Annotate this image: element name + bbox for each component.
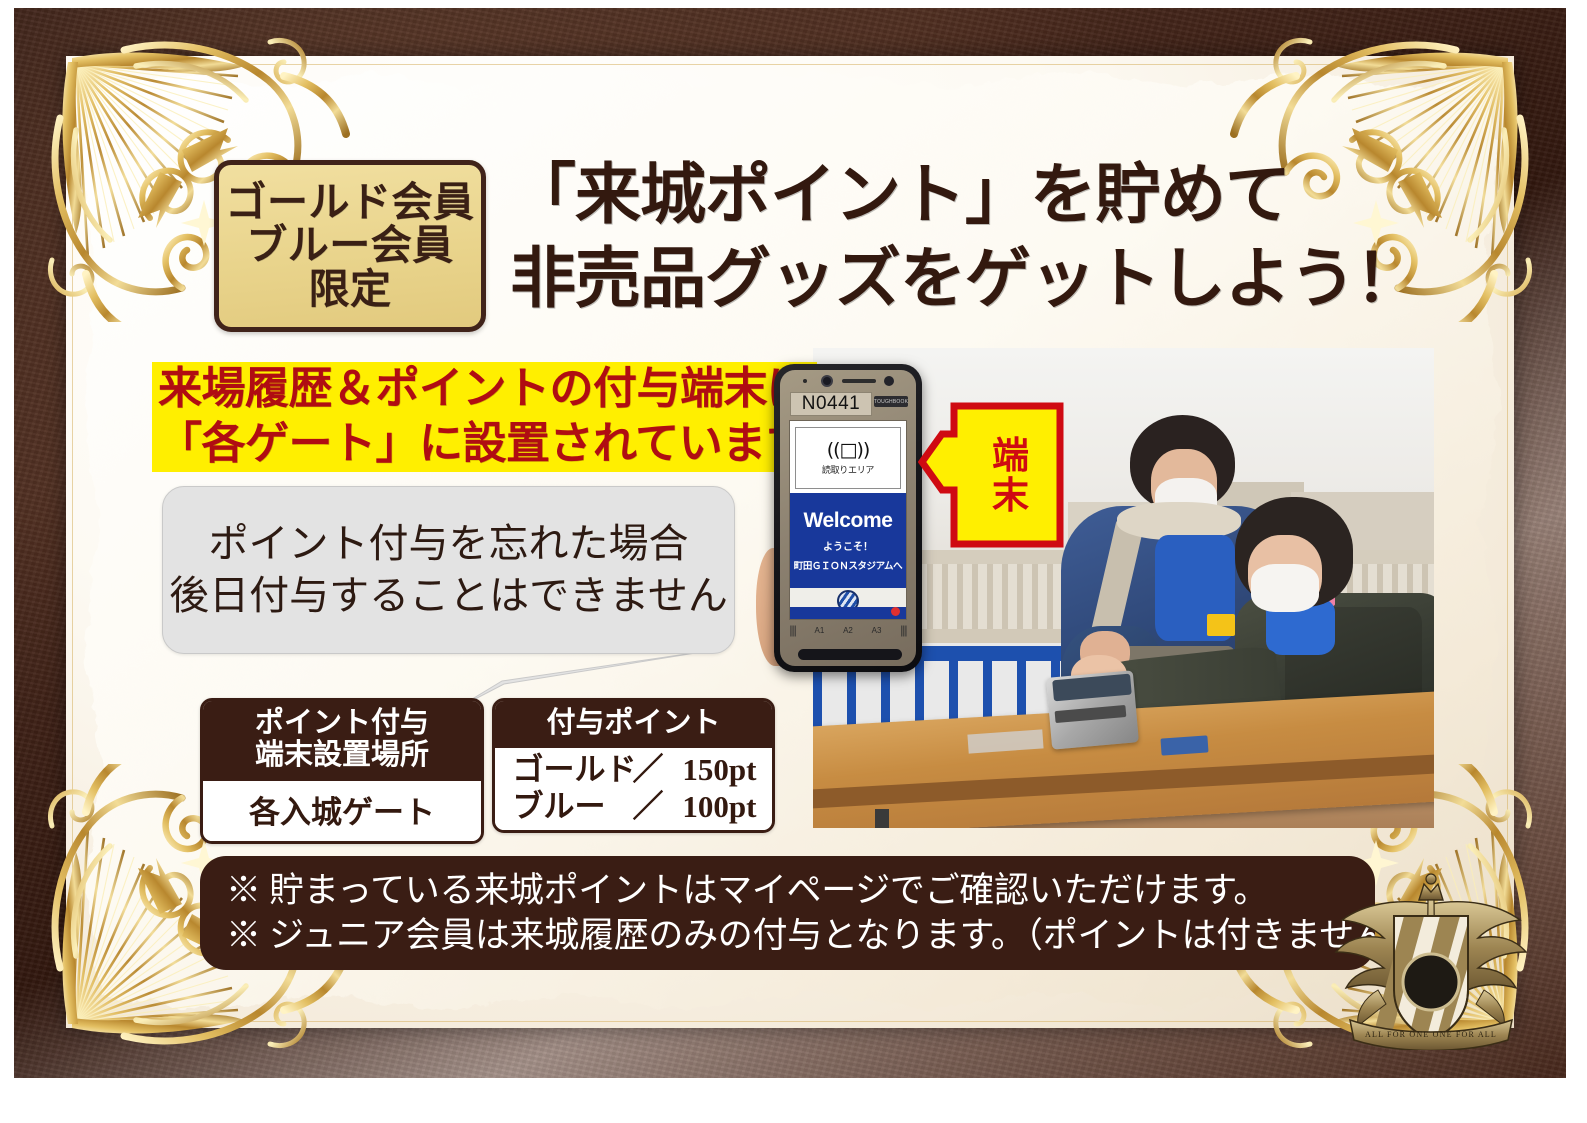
badge-line-limited: 限定	[309, 268, 392, 311]
terminal-brand-value: TOUGHBOOK	[874, 399, 908, 405]
award-points-body: ゴールド ／ 150pt ブルー ／ 100pt	[495, 748, 772, 830]
page-title: 「来城ポイント」を貯めて 非売品グッズをゲットしよう！	[510, 154, 1420, 323]
badge-line-blue: ブルー会員	[246, 224, 454, 267]
terminal-top-bar	[780, 370, 916, 390]
svg-text:ALL FOR ONE ONE FOR ALL: ALL FOR ONE ONE FOR ALL	[1365, 1030, 1497, 1039]
footnote-line-1: ※ 貯まっている来城ポイントはマイページでご確認いただけます。	[226, 868, 1349, 914]
award-points-gold: 150pt	[671, 751, 765, 788]
terminal-bars-right: |||	[900, 623, 906, 637]
award-points-blue: 100pt	[671, 788, 765, 825]
award-points-table: 付与ポイント ゴールド ／ 150pt ブルー ／ 100pt	[492, 698, 775, 833]
terminal-status-bar	[790, 607, 906, 619]
highlighted-notice: 来場履歴＆ポイントの付与端末は 「各ゲート」に設置されています‼	[152, 362, 841, 472]
membership-badge: ゴールド会員 ブルー会員 限定	[214, 160, 486, 332]
photo-child-mask	[1251, 564, 1319, 612]
terminal-id-value: N0441	[802, 393, 861, 415]
badge-line-gold: ゴールド会員	[226, 181, 475, 224]
poster-frame: ゴールド会員 ブルー会員 限定 「来城ポイント」を貯めて 非売品グッズをゲットし…	[14, 8, 1566, 1078]
terminal-welcome-jp1: ようこそ！	[823, 538, 873, 553]
terminal-location-header: ポイント付与 端末設置場所	[203, 701, 481, 781]
terminal-id-label: N0441	[790, 392, 872, 416]
handheld-terminal: N0441 TOUGHBOOK ((□)) 読取りエリア Welcome ようこ…	[774, 364, 922, 672]
footnote-line-2: ※ ジュニア会員は来城履歴のみの付与となります。（ポイントは付きません）	[226, 913, 1349, 959]
bubble-line-2: 後日付与することはできません	[169, 570, 728, 622]
award-separator-blue: ／	[633, 788, 659, 825]
terminal-grip-bar	[798, 649, 902, 660]
terminal-brand-label: TOUGHBOOK	[874, 396, 908, 407]
terminal-location-header-line-1: ポイント付与	[217, 708, 467, 740]
photo-staff-badge	[1207, 614, 1235, 636]
terminal-bars-left: |||	[789, 623, 795, 637]
terminal-location-header-line-2: 端末設置場所	[217, 740, 467, 772]
terminal-welcome-panel: Welcome ようこそ！ 町田ＧＩＯＮスタジアムへ	[790, 493, 906, 588]
photo-card-on-table	[1160, 735, 1208, 755]
terminal-button-a1[interactable]: A1	[815, 626, 825, 635]
marker-line-2: 「各ゲート」に設置されています‼	[152, 417, 841, 472]
callout-char-2: 末	[992, 478, 1029, 516]
callout-char-1: 端	[992, 438, 1029, 476]
terminal-welcome-en: Welcome	[803, 509, 892, 533]
terminal-location-table: ポイント付与 端末設置場所 各入城ゲート	[200, 698, 484, 844]
terminal-read-area-label: 読取りエリア	[822, 463, 874, 476]
table-row: ゴールド ／ 150pt	[495, 751, 772, 788]
camera-icon	[821, 375, 833, 387]
warning-speech-bubble: ポイント付与を忘れた場合 後日付与することはできません	[162, 486, 735, 654]
award-points-header: 付与ポイント	[495, 701, 772, 748]
sensor-icon	[884, 376, 894, 386]
club-crest-emblem: ALL FOR ONE ONE FOR ALL	[1316, 870, 1546, 1050]
award-tier-blue: ブルー	[503, 788, 621, 825]
terminal-screen[interactable]: ((□)) 読取りエリア Welcome ようこそ！ 町田ＧＩＯＮスタジアムへ	[789, 420, 907, 620]
award-tier-gold: ゴールド	[503, 751, 621, 788]
terminal-body: N0441 TOUGHBOOK ((□)) 読取りエリア Welcome ようこ…	[780, 370, 916, 666]
photo-table-leg	[875, 809, 889, 828]
nfc-icon: ((□))	[827, 441, 870, 460]
terminal-read-area[interactable]: ((□)) 読取りエリア	[795, 427, 901, 489]
terminal-location-value: 各入城ゲート	[203, 781, 481, 841]
speaker-icon	[842, 379, 876, 383]
terminal-indicator-dot	[803, 379, 807, 383]
headline-line-2: 非売品グッズをゲットしよう！	[510, 238, 1420, 322]
bubble-line-1: ポイント付与を忘れた場合	[209, 518, 689, 570]
record-indicator-icon	[891, 607, 900, 616]
marker-line-1: 来場履歴＆ポイントの付与端末は	[152, 362, 817, 417]
terminal-button-a3[interactable]: A3	[872, 626, 882, 635]
table-row: ブルー ／ 100pt	[495, 788, 772, 825]
terminal-button-row[interactable]: ||| A1 A2 A3 |||	[780, 620, 916, 640]
terminal-welcome-jp2: 町田ＧＩＯＮスタジアムへ	[794, 558, 903, 572]
headline-line-1: 「来城ポイント」を貯めて	[510, 154, 1420, 238]
terminal-callout-label: 端 末	[992, 438, 1029, 515]
footnotes-bar: ※ 貯まっている来城ポイントはマイページでご確認いただけます。 ※ ジュニア会員…	[200, 856, 1375, 970]
award-separator-gold: ／	[633, 751, 659, 788]
terminal-button-a2[interactable]: A2	[843, 626, 853, 635]
